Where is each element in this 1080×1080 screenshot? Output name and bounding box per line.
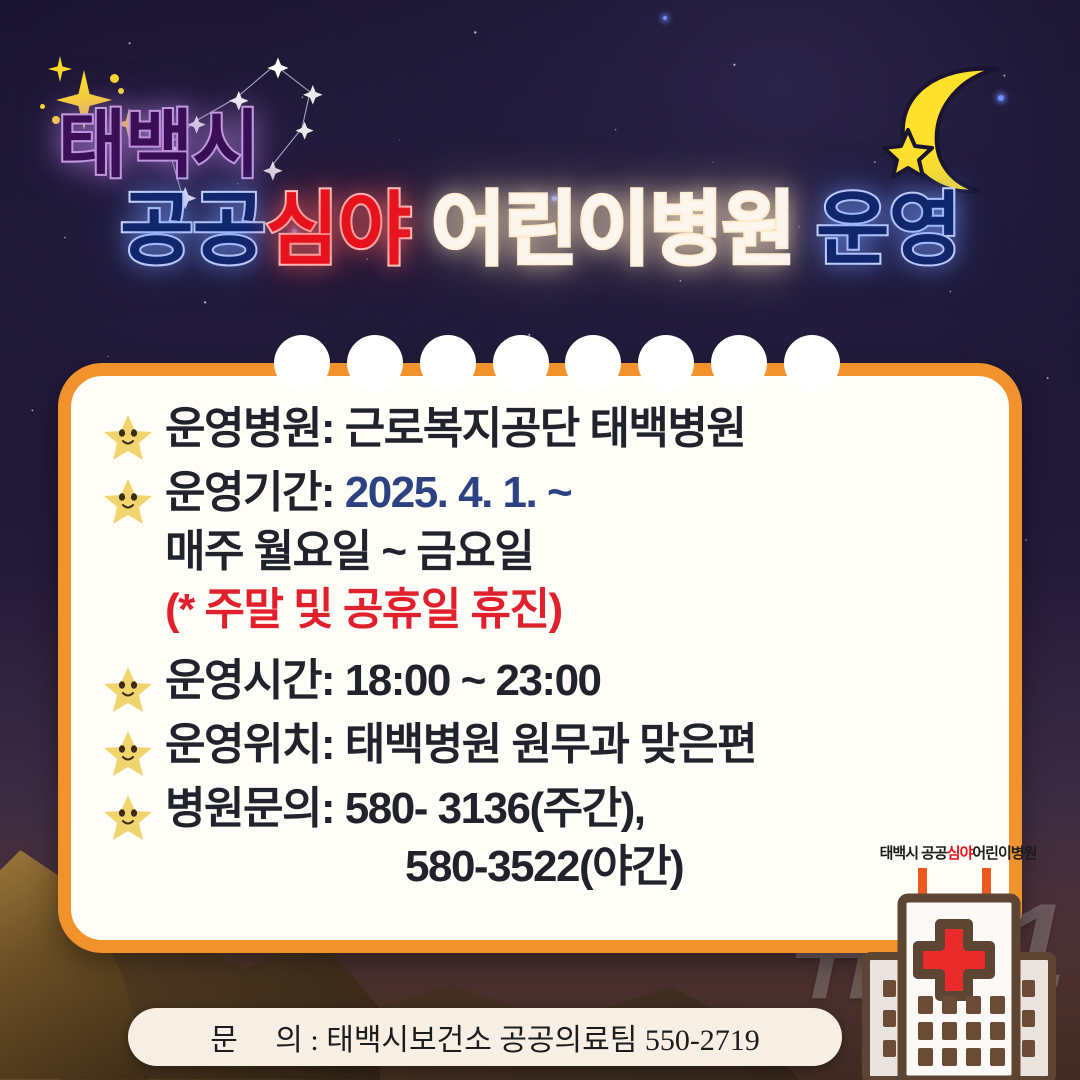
info-row-value: 근로복지공단 태백병원 xyxy=(334,404,745,453)
info-row: 운영시간: 18:00 ~ 23:00 xyxy=(103,652,983,714)
logo-caption-highlight: 심야 xyxy=(947,845,973,862)
info-row: 운영병원: 근로복지공단 태백병원 xyxy=(103,400,983,462)
info-row-body: 운영시간: 18:00 ~ 23:00 xyxy=(165,652,601,711)
info-row-body: 병원문의: 580- 3136(주간),580-3522(야간) xyxy=(165,780,683,897)
smiling-star-icon xyxy=(103,780,165,842)
title-word-operation: 운영 xyxy=(816,185,961,274)
info-row: 운영기간: 2025. 4. 1. ~매주 월요일 ~ 금요일(* 주말 및 공… xyxy=(103,464,983,640)
poster-title: 태백시 공공심야 어린이병원 운영 xyxy=(0,108,1080,270)
hospital-building-icon xyxy=(854,864,1064,1080)
info-row-subline: (* 주말 및 공휴일 휴진) xyxy=(165,581,571,640)
hospital-logo: 태백시 공공심야어린이병원 xyxy=(844,842,1072,1080)
info-row-text: 운영시간: 18:00 ~ 23:00 xyxy=(165,652,601,711)
info-row-subline: 580-3522(야간) xyxy=(165,838,683,897)
title-line-main: 공공심야 어린이병원 운영 xyxy=(0,190,1080,270)
title-word-gonggong: 공공 xyxy=(120,185,265,274)
contact-footer-text: 문 의 : 태백시보건소 공공의료팀 550-2719 xyxy=(210,1015,760,1059)
smiling-star-icon xyxy=(103,716,165,778)
row-spacer xyxy=(103,642,983,652)
title-word-hospital: 어린이병원 xyxy=(432,185,795,274)
title-word-simya: 심야 xyxy=(265,185,410,274)
info-row-text: 운영위치: 태백병원 원무과 맞은편 xyxy=(165,716,756,775)
blue-star-glow xyxy=(663,16,667,20)
sparkle-dot-icon xyxy=(110,74,119,83)
title-line-city: 태백시 xyxy=(0,108,1080,182)
info-row-subline: 매주 월요일 ~ 금요일 xyxy=(165,523,571,582)
info-row-value: 18:00 ~ 23:00 xyxy=(334,656,600,705)
info-row-label: 운영병원: xyxy=(165,404,334,453)
info-row-value: 580- 3136(주간), xyxy=(334,784,644,833)
info-row-label: 운영시간: xyxy=(165,656,334,705)
poster-root: 태백시 공공심야 어린이병원 운영 뉴스1 운영병원: 근로복지공단 태백병원운… xyxy=(0,0,1080,1080)
info-row-value: 2025. 4. 1. ~ xyxy=(334,468,571,517)
logo-caption-part1: 태백시 공공 xyxy=(880,845,947,862)
smiling-star-icon xyxy=(103,464,165,526)
info-row-value: 태백병원 원무과 맞은편 xyxy=(334,720,756,769)
smiling-star-icon xyxy=(103,400,165,462)
sparkle-dot-icon xyxy=(118,88,124,94)
logo-caption-part2: 어린이병원 xyxy=(972,845,1036,862)
contact-footer-pill: 문 의 : 태백시보건소 공공의료팀 550-2719 xyxy=(128,1008,842,1066)
info-row-label: 운영위치: xyxy=(165,720,334,769)
info-row-text: 운영기간: 2025. 4. 1. ~ xyxy=(165,464,571,523)
info-row: 운영위치: 태백병원 원무과 맞은편 xyxy=(103,716,983,778)
info-row-body: 운영위치: 태백병원 원무과 맞은편 xyxy=(165,716,756,775)
info-row-label: 병원문의: xyxy=(165,784,334,833)
hospital-logo-caption: 태백시 공공심야어린이병원 xyxy=(844,842,1072,863)
smiling-star-icon xyxy=(103,652,165,714)
info-row-body: 운영병원: 근로복지공단 태백병원 xyxy=(165,400,745,459)
info-row-text: 운영병원: 근로복지공단 태백병원 xyxy=(165,400,745,459)
info-row-body: 운영기간: 2025. 4. 1. ~매주 월요일 ~ 금요일(* 주말 및 공… xyxy=(165,464,571,640)
info-row-label: 운영기간: xyxy=(165,468,334,517)
info-row-list: 운영병원: 근로복지공단 태백병원운영기간: 2025. 4. 1. ~매주 월… xyxy=(103,400,983,909)
info-row-text: 병원문의: 580- 3136(주간), xyxy=(165,780,683,839)
